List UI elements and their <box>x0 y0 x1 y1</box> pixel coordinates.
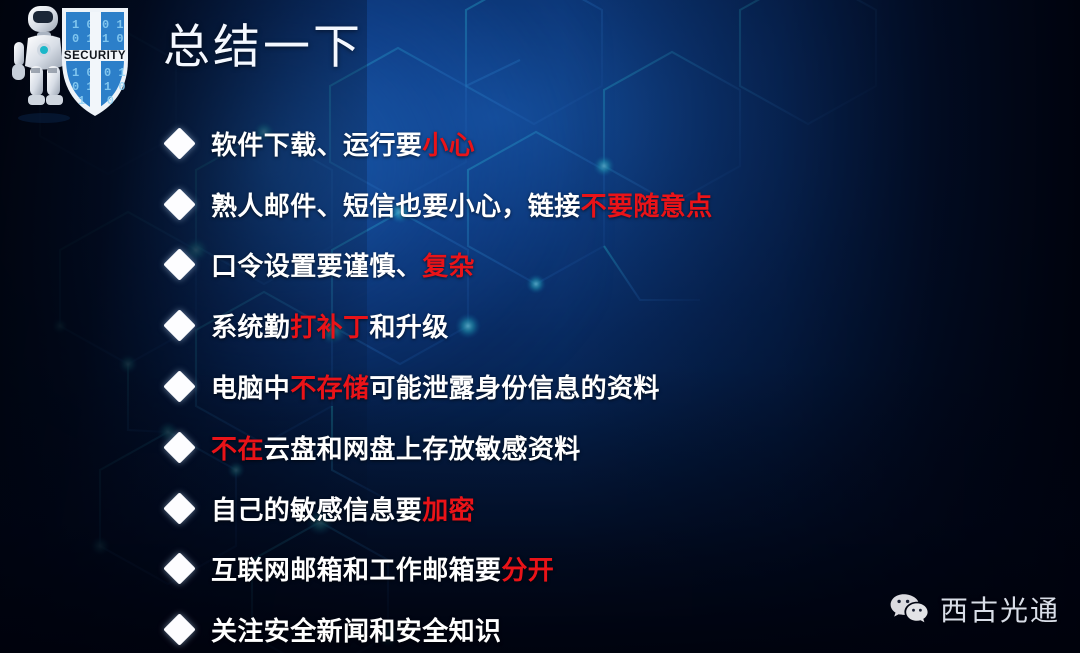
bullet-highlight-text: 复杂 <box>422 251 475 281</box>
bullet-text: 系统勤打补丁和升级 <box>211 307 449 344</box>
bullet-plain-text: 和升级 <box>369 312 448 342</box>
bullet-diamond-icon <box>163 431 196 464</box>
bullet-text: 电脑中不存储可能泄露身份信息的资料 <box>211 368 660 405</box>
bullet-highlight-text: 分开 <box>501 555 554 585</box>
summary-bullet-list: 软件下载、运行要小心熟人邮件、短信也要小心，链接不要随意点口令设置要谨慎、复杂系… <box>168 113 1058 653</box>
svg-text:0 1: 0 1 <box>102 18 124 32</box>
bullet-plain-text: 系统勤 <box>211 312 290 342</box>
bullet-highlight-text: 不在 <box>211 434 264 464</box>
bullet-plain-text: 互联网邮箱和工作邮箱要 <box>211 555 501 585</box>
security-robot-shield-logo: 1 0 0 1 0 1 1 0 1 0 0 1 0 1 1 0 1 0 0 SE… <box>4 0 146 126</box>
bullet-highlight-text: 打补丁 <box>290 312 369 342</box>
bullet-text: 熟人邮件、短信也要小心，链接不要随意点 <box>211 186 713 223</box>
bullet-plain-text: 可能泄露身份信息的资料 <box>369 373 659 403</box>
bullet-text: 关注安全新闻和安全知识 <box>211 611 501 648</box>
bullet-highlight-text: 不要随意点 <box>581 191 713 221</box>
bullet-plain-text: 电脑中 <box>211 373 290 403</box>
bullet-plain-text: 自己的敏感信息要 <box>211 495 422 525</box>
bullet-diamond-icon <box>163 370 196 403</box>
bullet-row: 软件下载、运行要小心 <box>168 113 1058 174</box>
bullet-plain-text: 云盘和网盘上存放敏感资料 <box>264 434 581 464</box>
bullet-row: 熟人邮件、短信也要小心，链接不要随意点 <box>168 174 1058 235</box>
svg-text:0 1: 0 1 <box>104 66 126 80</box>
svg-text:1 0: 1 0 <box>104 80 126 94</box>
bullet-row: 自己的敏感信息要加密 <box>168 478 1058 539</box>
wechat-watermark: 西古光通 <box>889 589 1060 629</box>
page-title: 总结一下 <box>163 18 363 76</box>
bullet-plain-text: 关注安全新闻和安全知识 <box>211 616 501 646</box>
watermark-label: 西古光通 <box>940 589 1060 629</box>
bullet-plain-text: 口令设置要谨慎、 <box>211 251 422 281</box>
presentation-slide: 1 0 0 1 0 1 1 0 1 0 0 1 0 1 1 0 1 0 0 SE… <box>0 0 1080 653</box>
bullet-diamond-icon <box>163 188 196 221</box>
bullet-highlight-text: 加密 <box>422 495 475 525</box>
bullet-diamond-icon <box>163 553 196 586</box>
wechat-icon <box>889 592 929 626</box>
bullet-row: 电脑中不存储可能泄露身份信息的资料 <box>168 356 1058 417</box>
bullet-text: 不在云盘和网盘上存放敏感资料 <box>211 429 581 466</box>
bullet-row: 口令设置要谨慎、复杂 <box>168 235 1058 296</box>
shield-badge: 1 0 0 1 0 1 1 0 1 0 0 1 0 1 1 0 1 0 0 SE… <box>62 8 128 116</box>
bullet-highlight-text: 不存储 <box>290 373 369 403</box>
bullet-plain-text: 熟人邮件、短信也要小心，链接 <box>211 191 581 221</box>
bullet-diamond-icon <box>163 310 196 343</box>
bullet-diamond-icon <box>163 492 196 525</box>
bullet-row: 不在云盘和网盘上存放敏感资料 <box>168 417 1058 478</box>
bullet-text: 自己的敏感信息要加密 <box>211 490 475 527</box>
bullet-plain-text: 软件下载、运行要 <box>211 130 422 160</box>
bullet-text: 口令设置要谨慎、复杂 <box>211 246 475 283</box>
bullet-diamond-icon <box>163 614 196 647</box>
bullet-text: 软件下载、运行要小心 <box>211 125 475 162</box>
bullet-highlight-text: 小心 <box>422 130 475 160</box>
bullet-text: 互联网邮箱和工作邮箱要分开 <box>211 550 554 587</box>
svg-text:SECURITY: SECURITY <box>64 50 126 62</box>
bullet-diamond-icon <box>163 249 196 282</box>
bullet-diamond-icon <box>163 127 196 160</box>
bullet-row: 系统勤打补丁和升级 <box>168 295 1058 356</box>
svg-text:1 0: 1 0 <box>102 32 124 46</box>
